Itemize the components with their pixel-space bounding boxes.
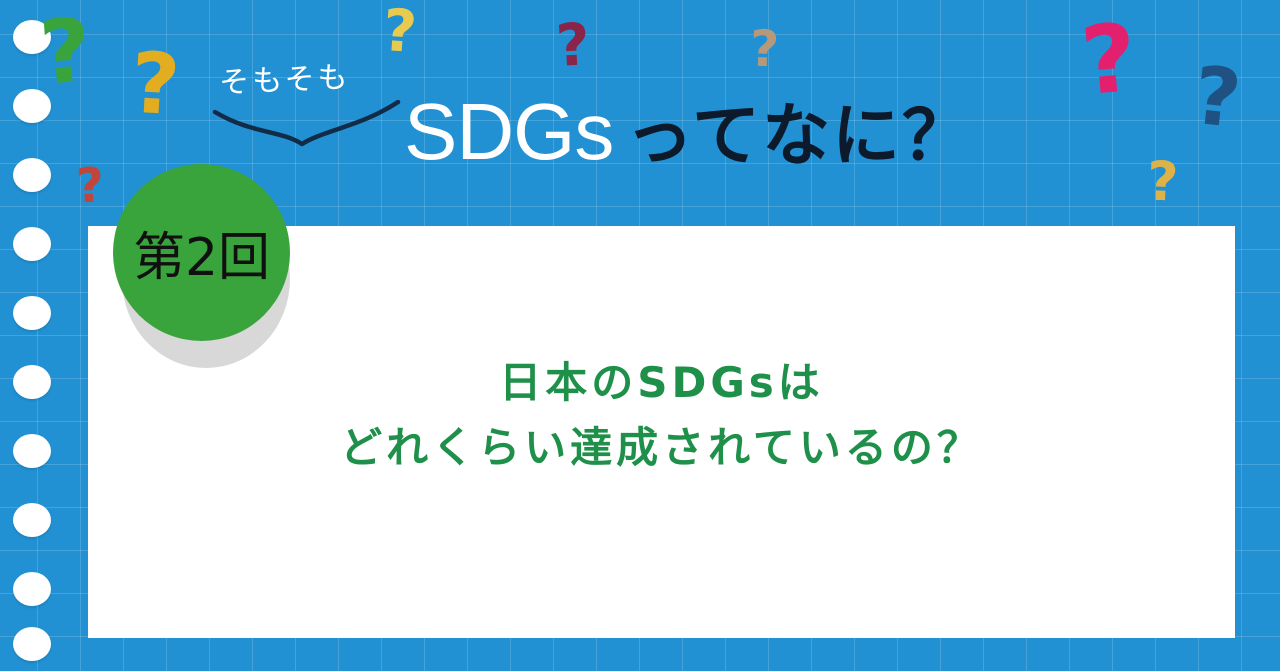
question-mark-icon-q-green: ?	[37, 6, 94, 97]
punch-hole-icon	[13, 227, 51, 261]
question-mark-icon-q-pink: ?	[1078, 12, 1141, 110]
punch-hole-icon	[13, 158, 51, 192]
card-headline: 日本のSDGsはどれくらい達成されているの？	[88, 350, 1235, 480]
page-title: SDGsってなに？	[404, 92, 972, 172]
punch-hole-icon	[13, 572, 51, 606]
punch-hole-icon	[13, 296, 51, 330]
title-jp-text: ってなに？	[625, 97, 972, 176]
question-mark-icon-q-gold-left: ?	[129, 41, 182, 127]
question-mark-icon-q-gold-bottom: ?	[1146, 154, 1179, 209]
question-mark-icon-q-maroon: ?	[555, 15, 592, 75]
question-mark-icon-q-yellow-top: ?	[381, 1, 419, 61]
punch-hole-icon	[13, 434, 51, 468]
punch-hole-icon	[13, 365, 51, 399]
card-headline-line: どれくらい達成されているの？	[88, 415, 1235, 480]
episode-badge-label: 第2回	[133, 215, 270, 290]
question-mark-icon-q-navy: ?	[1190, 56, 1245, 140]
title-en-text: SDGs	[404, 87, 613, 176]
episode-badge: 第2回	[113, 164, 290, 341]
punch-hole-icon	[13, 503, 51, 537]
card-headline-line: 日本のSDGsは	[88, 350, 1235, 415]
poster-canvas: ????????? そもそも SDGsってなに？ 第2回 日本のSDGsはどれく…	[0, 0, 1280, 671]
question-mark-icon-q-tan: ?	[749, 24, 780, 75]
question-mark-icon-q-red: ?	[75, 162, 105, 211]
handwritten-prefix-text: そもそも	[218, 52, 351, 102]
curly-brace-icon	[212, 100, 402, 148]
punch-hole-icon	[13, 627, 51, 661]
